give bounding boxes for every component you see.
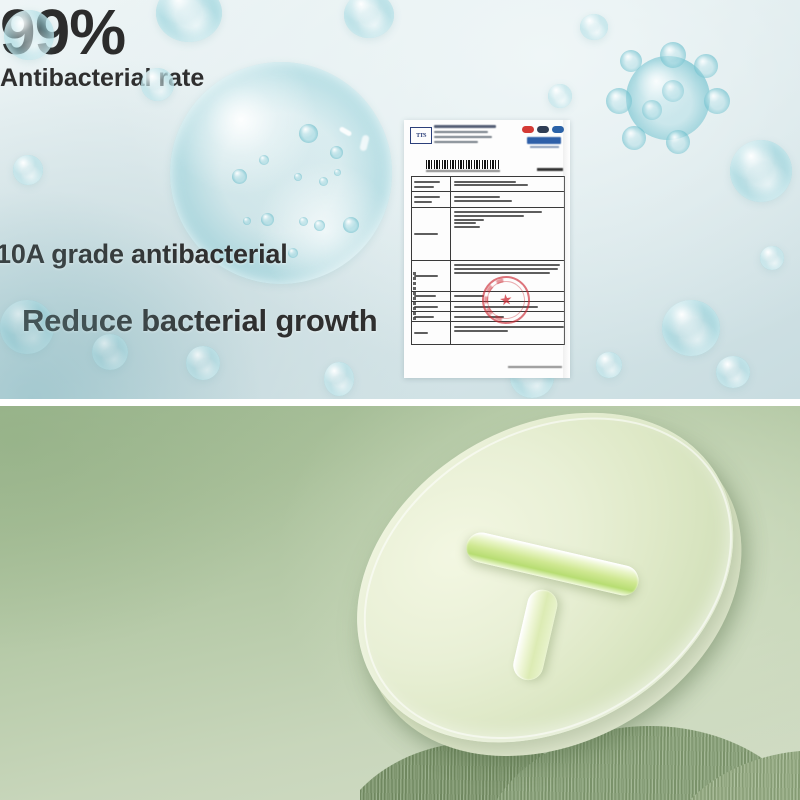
table-row [412,192,564,207]
water-bubble-small [0,300,54,354]
promo-banner: TTS [0,0,800,800]
badge-cma-icon [522,126,534,133]
certificate-header: TTS [404,120,570,161]
barcode-number [426,170,500,172]
page-fold-shadow [563,120,570,378]
stamp-ring-text [481,275,531,325]
badge-ilac-icon [552,126,564,133]
accreditation-badges [522,126,564,133]
company-name-block [434,125,496,146]
report-barcode [426,160,500,169]
vertical-side-label [412,270,417,332]
stat-percentage: 99% [0,0,800,64]
table-row [412,322,564,345]
water-bubble-small [596,352,622,378]
water-bubble-small [92,334,128,370]
badge-cnas-icon [537,126,549,133]
table-row [412,292,564,302]
stamp-star-icon [499,293,513,307]
report-title-cn [527,137,561,144]
report-subtitle-en [530,146,559,148]
stat-label: Antibacterial rate [0,64,800,93]
water-bubble-small [4,10,54,60]
cluster-bubble [608,44,728,154]
water-bubble-large [170,62,392,284]
table-row [412,261,564,292]
table-row [412,302,564,312]
test-report-document: TTS [404,120,570,378]
water-bubble-small [548,84,572,108]
lab-logo-icon: TTS [410,127,432,144]
report-table [411,176,565,345]
water-bubble-small [141,68,174,101]
water-bubble-small [580,14,608,40]
water-bubble-small [730,140,792,202]
table-row [412,177,564,192]
water-bubble-small [156,0,222,42]
safety-claims-panel: O-Formaldehyde O fluorescent O carcinoge… [0,406,800,800]
report-footer-text [508,366,562,368]
water-bubble-small [344,0,394,38]
page-number-label [537,168,563,171]
table-row [412,208,564,261]
table-row [412,312,564,322]
water-bubble-small [186,346,220,380]
water-bubble-small [662,300,720,356]
water-bubble-small [760,246,784,270]
headline-reduce-growth: Reduce bacterial growth [22,303,377,339]
water-bubble-small [324,362,354,396]
water-bubble-small [716,356,750,388]
official-red-stamp [479,273,533,327]
antibacterial-panel: TTS [0,0,800,399]
checkmark-short-stroke [510,587,560,683]
water-bubble-small [13,155,43,185]
headline-grade: 10A grade antibacterial [0,239,288,270]
water-bubble-small [510,356,554,398]
checkmark-long-stroke [463,530,641,599]
lab-logo-text: TTS [416,133,426,139]
